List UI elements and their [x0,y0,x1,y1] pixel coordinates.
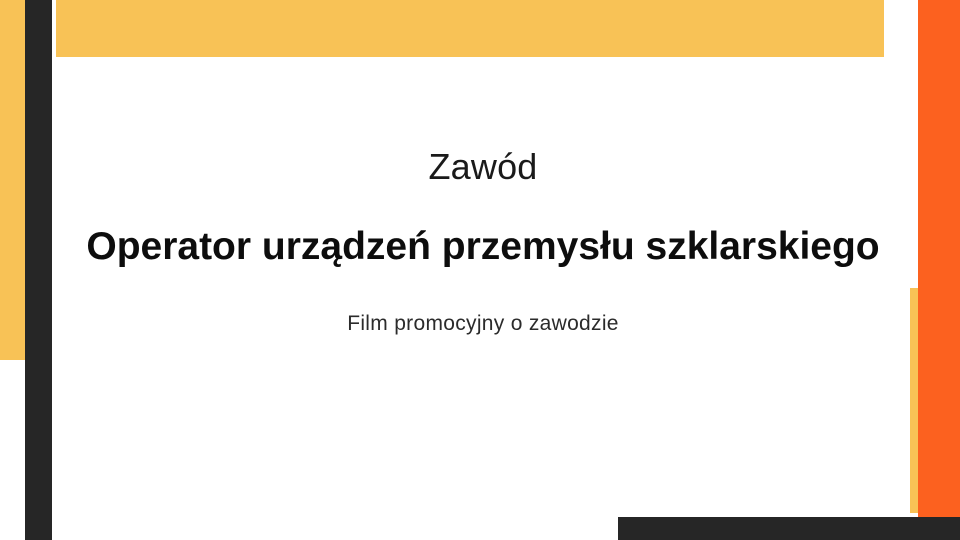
slide-subtitle: Film promocyjny o zawodzie [347,269,619,336]
decoration-right-orange-bar [918,0,960,517]
decoration-right-yellow-bar [910,288,918,513]
title-slide: Zawód Operator urządzeń przemysłu szklar… [0,0,960,540]
slide-eyebrow: Zawód [428,147,537,187]
slide-title: Operator urządzeń przemysłu szklarskiego [86,187,879,270]
decoration-bottom-dark-bar [618,517,960,540]
decoration-top-yellow-banner [56,0,884,57]
slide-text-block: Zawód Operator urządzeń przemysłu szklar… [56,57,910,517]
decoration-left-dark-bar [25,0,52,540]
decoration-left-yellow-bar [0,0,25,360]
